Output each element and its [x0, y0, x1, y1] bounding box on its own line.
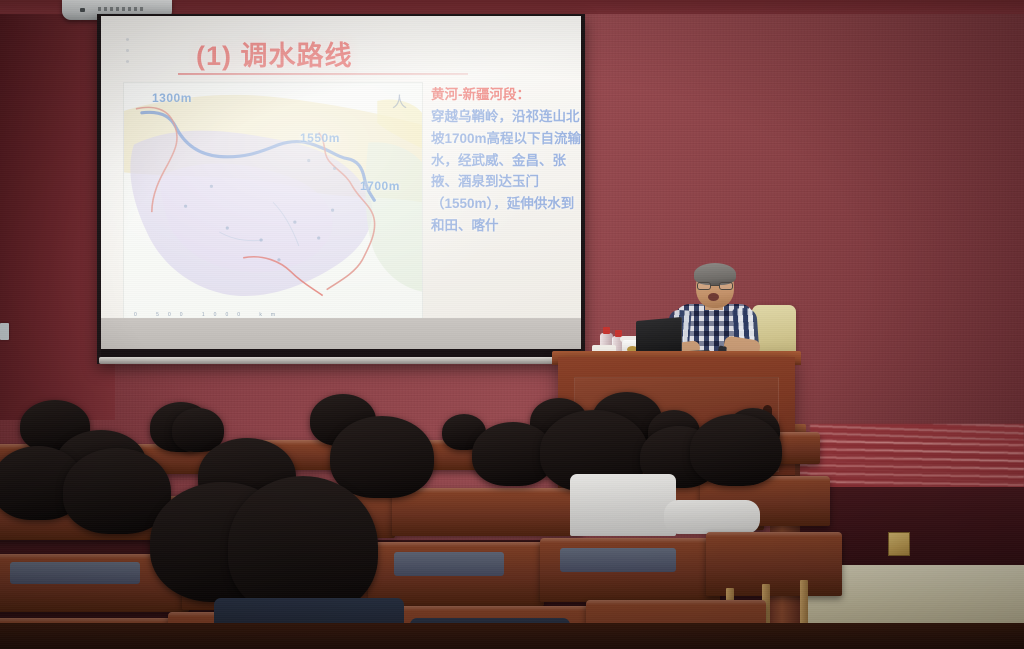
lecture-hall-scene: (1) 调水路线	[0, 0, 1024, 649]
scene-vignette	[0, 0, 1024, 649]
